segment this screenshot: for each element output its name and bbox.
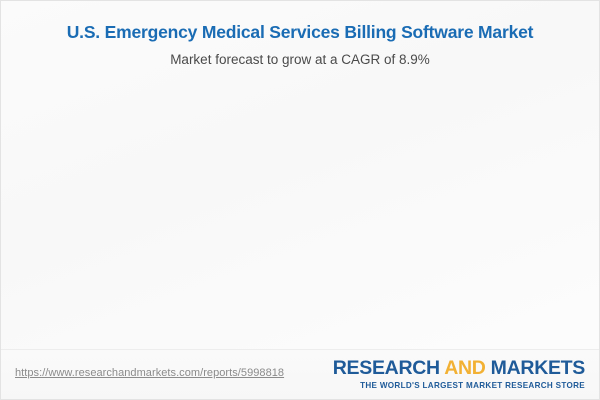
chart-plot-area: USD 493.2 Million xyxy=(1,1,599,351)
logo-tagline: THE WORLD'S LARGEST MARKET RESEARCH STOR… xyxy=(333,380,585,391)
logo-word-research: RESEARCH xyxy=(333,357,444,379)
logo-wordmark: RESEARCH AND MARKETS xyxy=(333,358,585,379)
footer-bar: https://www.researchandmarkets.com/repor… xyxy=(1,349,599,399)
research-and-markets-logo[interactable]: RESEARCH AND MARKETS THE WORLD'S LARGEST… xyxy=(333,358,585,391)
report-url-link[interactable]: https://www.researchandmarkets.com/repor… xyxy=(15,367,284,379)
logo-word-markets: MARKETS xyxy=(486,357,585,379)
logo-word-and: AND xyxy=(444,357,485,379)
infographic-card: U.S. Emergency Medical Services Billing … xyxy=(0,0,600,400)
